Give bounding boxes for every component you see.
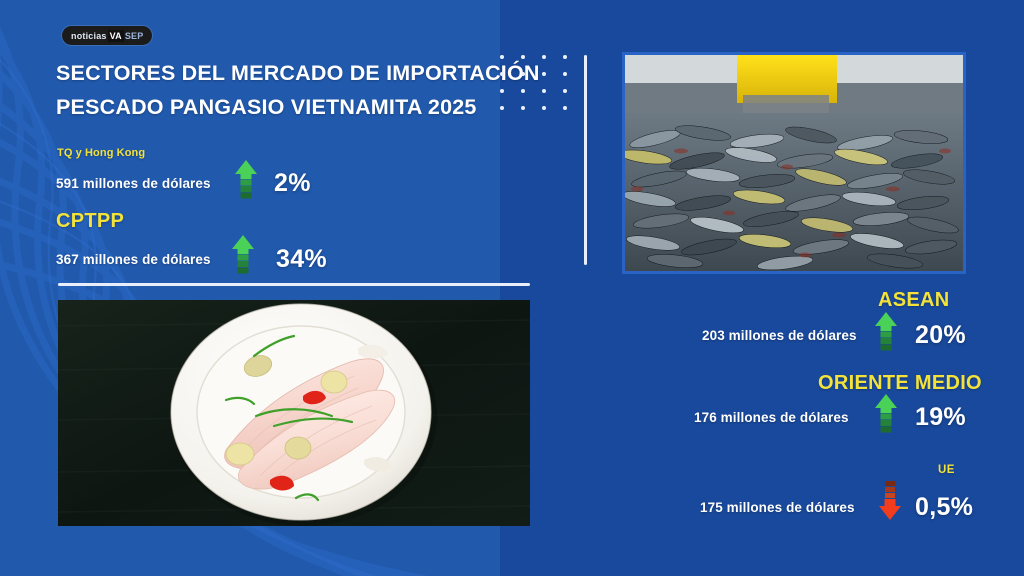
trend-arrow-up-cptpp — [231, 234, 255, 276]
grid-dot — [542, 89, 546, 93]
trend-arrow-up-asean — [874, 311, 898, 353]
badge-text-sep: SEP — [125, 31, 144, 41]
percentage-cptpp: 34% — [276, 245, 327, 274]
grid-dot — [542, 106, 546, 110]
vertical-divider — [584, 55, 587, 265]
grid-dot — [521, 55, 525, 59]
title-line-2: PESCADO PANGASIO VIETNAMITA 2025 — [56, 90, 526, 124]
region-label-oriente-medio: ORIENTE MEDIO — [818, 372, 982, 395]
amount-oriente-medio: 176 millones de dólares — [694, 410, 849, 425]
region-label-cptpp: CPTPP — [56, 210, 124, 233]
horizontal-divider — [58, 283, 530, 286]
photo-fish-fillet-plate — [58, 300, 530, 526]
grid-dot — [500, 89, 504, 93]
stat-row-asean: 203 millones de dólares 20% — [702, 328, 992, 343]
stat-row-oriente-medio: 176 millones de dólares 19% — [694, 410, 994, 425]
amount-cptpp: 367 millones de dólares — [56, 252, 211, 267]
region-label-asean: ASEAN — [878, 289, 950, 312]
percentage-asean: 20% — [915, 321, 966, 350]
grid-dot — [563, 72, 567, 76]
grid-dot — [563, 55, 567, 59]
trend-arrow-up-tq-hong-kong — [234, 159, 258, 201]
title-line-1: SECTORES DEL MERCADO DE IMPORTACIÓN — [56, 56, 526, 90]
grid-dot — [500, 72, 504, 76]
dot-grid-decoration — [500, 55, 567, 110]
percentage-oriente-medio: 19% — [915, 403, 966, 432]
badge-text-va: VA — [108, 30, 124, 42]
badge-text-noticias: noticias — [71, 31, 107, 41]
grid-dot — [521, 89, 525, 93]
stat-row-tq-hong-kong: 591 millones de dólares 2% — [56, 176, 356, 191]
region-label-ue: UE — [938, 464, 955, 476]
percentage-tq-hong-kong: 2% — [274, 169, 311, 198]
amount-asean: 203 millones de dólares — [702, 328, 857, 343]
infographic-slide: noticias VA SEP SECTORES DEL MERCADO DE … — [0, 0, 1024, 576]
source-badge: noticias VA SEP — [62, 26, 152, 45]
page-title: SECTORES DEL MERCADO DE IMPORTACIÓN PESC… — [56, 56, 526, 124]
stat-row-cptpp: 367 millones de dólares 34% — [56, 252, 386, 267]
trend-arrow-up-oriente-medio — [874, 393, 898, 435]
grid-dot — [563, 106, 567, 110]
grid-dot — [521, 72, 525, 76]
stat-row-ue: 175 millones de dólares 0,5% — [700, 500, 1000, 515]
trend-arrow-down-ue — [878, 479, 902, 521]
grid-dot — [542, 72, 546, 76]
percentage-ue: 0,5% — [915, 493, 973, 522]
photo-fish-pile — [622, 52, 966, 274]
grid-dot — [500, 55, 504, 59]
amount-ue: 175 millones de dólares — [700, 500, 855, 515]
grid-dot — [563, 89, 567, 93]
region-label-tq-hong-kong: TQ y Hong Kong — [57, 147, 145, 159]
grid-dot — [542, 55, 546, 59]
grid-dot — [521, 106, 525, 110]
amount-tq-hong-kong: 591 millones de dólares — [56, 176, 211, 191]
grid-dot — [500, 106, 504, 110]
